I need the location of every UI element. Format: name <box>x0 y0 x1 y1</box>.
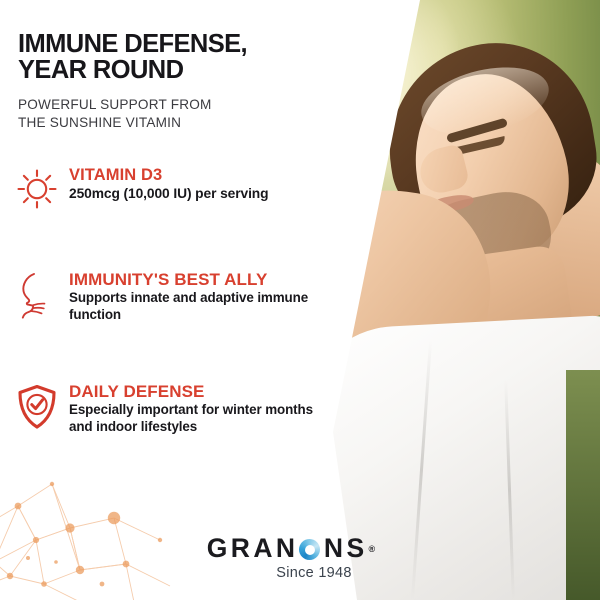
feature-description: Especially important for winter months a… <box>69 402 334 435</box>
brand-logo: GRAN NS ® Since 1948 <box>176 533 406 581</box>
headline-line-2: YEAR ROUND <box>18 57 318 83</box>
feature-daily-defense: DAILY DEFENSE Especially important for w… <box>14 382 334 435</box>
subhead-line-2: THE SUNSHINE VITAMIN <box>18 114 318 132</box>
subhead-line-1: POWERFUL SUPPORT FROM <box>18 96 318 114</box>
product-infographic: IMMUNE DEFENSE, YEAR ROUND POWERFUL SUPP… <box>0 0 600 600</box>
grass-edge <box>566 370 600 600</box>
registered-trademark-symbol: ® <box>369 544 376 554</box>
feature-vitamin-d3: VITAMIN D3 250mcg (10,000 IU) per servin… <box>14 166 334 218</box>
brand-tagline: Since 1948 <box>222 565 406 581</box>
sun-icon <box>14 166 60 218</box>
page-subtitle: POWERFUL SUPPORT FROM THE SUNSHINE VITAM… <box>18 96 318 131</box>
brand-o-ring-icon <box>299 539 320 560</box>
page-title: IMMUNE DEFENSE, YEAR ROUND <box>18 31 318 83</box>
feature-description: Supports innate and adaptive immune func… <box>69 290 334 323</box>
feature-body: IMMUNITY'S BEST ALLY Supports innate and… <box>69 270 334 323</box>
feature-title: VITAMIN D3 <box>69 166 334 185</box>
feature-immunity-best-ally: IMMUNITY'S BEST ALLY Supports innate and… <box>14 270 334 323</box>
feature-title: IMMUNITY'S BEST ALLY <box>69 270 334 289</box>
feature-body: VITAMIN D3 250mcg (10,000 IU) per servin… <box>69 166 334 203</box>
face-breathing-icon <box>14 270 60 322</box>
feature-description: 250mcg (10,000 IU) per serving <box>69 186 334 203</box>
brand-name-part-2: NS <box>324 533 368 564</box>
shield-check-icon <box>14 382 60 434</box>
brand-name-part-1: GRAN <box>207 533 299 564</box>
brand-wordmark: GRAN NS ® <box>176 533 406 564</box>
feature-title: DAILY DEFENSE <box>69 382 334 401</box>
feature-body: DAILY DEFENSE Especially important for w… <box>69 382 334 435</box>
headline-line-1: IMMUNE DEFENSE, <box>18 31 318 57</box>
content-column: IMMUNE DEFENSE, YEAR ROUND POWERFUL SUPP… <box>0 0 330 600</box>
